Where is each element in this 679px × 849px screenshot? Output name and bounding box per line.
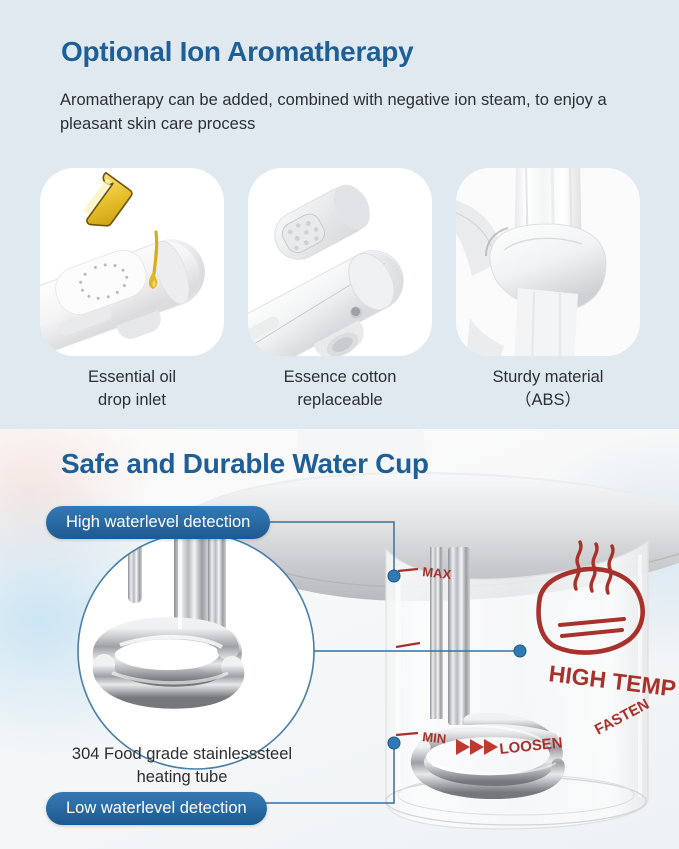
badge-low-waterlevel-detection[interactable]: Low waterlevel detection bbox=[46, 792, 267, 825]
callout-dot-mid bbox=[514, 645, 526, 657]
feature-card-essential-oil bbox=[40, 168, 224, 356]
caption-line-1: Essential oil bbox=[88, 368, 176, 386]
caption-essence-cotton: Essence cotton replaceable bbox=[242, 366, 438, 412]
infographic-page: Optional Ion Aromatherapy Aromatherapy c… bbox=[0, 0, 679, 849]
caption-line-2: （ABS） bbox=[515, 391, 581, 409]
magnifier-caption-line-2: heating tube bbox=[137, 768, 228, 786]
caption-line-2: replaceable bbox=[297, 391, 382, 409]
callout-dot-max bbox=[388, 570, 400, 582]
feature-card-sturdy-material bbox=[456, 168, 640, 356]
caption-sturdy-material: Sturdy material （ABS） bbox=[450, 366, 646, 412]
page-title-water-cup: Safe and Durable Water Cup bbox=[61, 448, 429, 480]
abs-joint-icon bbox=[456, 168, 640, 356]
feature-card-row bbox=[40, 168, 640, 356]
feature-card-essence-cotton bbox=[248, 168, 432, 356]
caption-line-1: Sturdy material bbox=[493, 368, 604, 386]
caption-line-2: drop inlet bbox=[98, 391, 166, 409]
magnifier-caption: 304 Food grade stainlesssteel heating tu… bbox=[32, 743, 332, 789]
top-section: Optional Ion Aromatherapy Aromatherapy c… bbox=[0, 0, 679, 429]
cotton-filter-icon bbox=[248, 168, 432, 356]
aromatherapy-subtitle: Aromatherapy can be added, combined with… bbox=[60, 88, 630, 136]
min-label: MIN bbox=[422, 729, 447, 746]
caption-essential-oil: Essential oil drop inlet bbox=[34, 366, 230, 412]
page-title-aromatherapy: Optional Ion Aromatherapy bbox=[61, 36, 413, 68]
magnifier-caption-line-1: 304 Food grade stainlesssteel bbox=[72, 745, 292, 763]
oil-dropper-icon bbox=[40, 168, 224, 356]
max-label: MAX bbox=[422, 564, 453, 582]
badge-high-waterlevel-detection[interactable]: High waterlevel detection bbox=[46, 506, 270, 539]
feature-caption-row: Essential oil drop inlet Essence cotton … bbox=[34, 366, 646, 412]
callout-dot-min bbox=[388, 737, 400, 749]
caption-line-1: Essence cotton bbox=[284, 368, 397, 386]
